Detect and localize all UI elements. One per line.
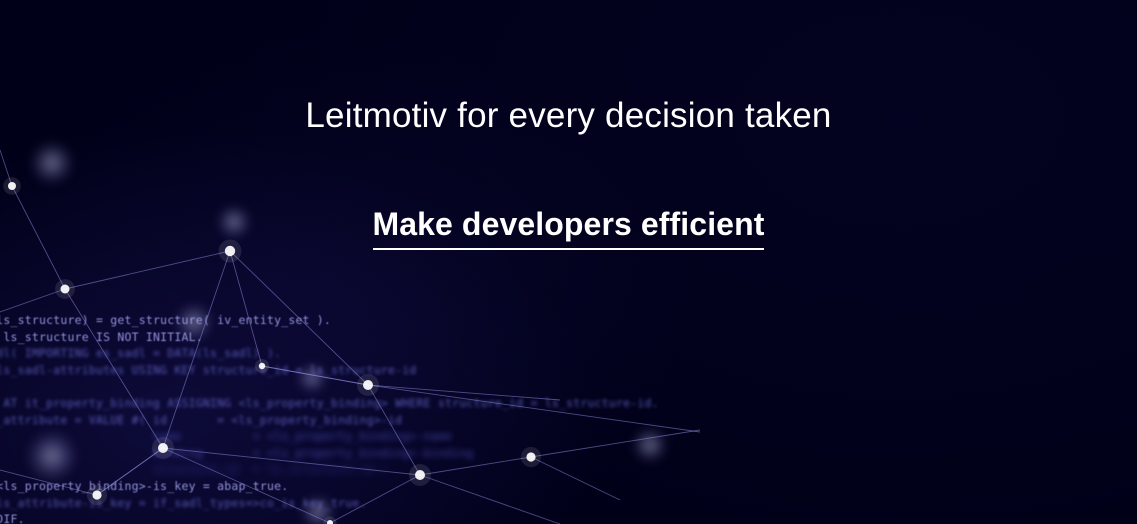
network-edge: [65, 251, 230, 289]
code-line: ls_attribute-is_key = if_sadl_types=>co_…: [0, 495, 622, 512]
background-code-text: ls_structure) = get_structure( iv_entity…: [0, 312, 622, 524]
network-edge: [0, 150, 12, 186]
network-edge: [0, 289, 65, 312]
code-line: name = <ls_property_binding>-name: [0, 428, 622, 445]
code-line: E ls_sadl-attributes USING KEY structure…: [0, 362, 622, 379]
network-node: [61, 285, 70, 294]
network-node-halo: [55, 279, 75, 299]
code-line: OP AT it_property_binding ASSIGNING <ls_…: [0, 395, 622, 412]
glow-blob: [632, 427, 668, 463]
code-line: ENDIF.: [0, 511, 622, 524]
code-line: binding = <ls_property_binding>-binding: [0, 445, 622, 462]
code-line: sadl( IMPORTING es_sadl = DATA(ls_sadl) …: [0, 345, 622, 362]
code-line: [0, 378, 622, 395]
network-node-halo: [3, 177, 21, 195]
subtitle-container: Make developers efficient: [0, 203, 1137, 250]
network-node: [8, 182, 16, 190]
slide-canvas: ls_structure) = get_structure( iv_entity…: [0, 0, 1137, 524]
code-line: IF ls_structure IS NOT INITIAL.: [0, 329, 622, 346]
glow-blob: [30, 141, 74, 185]
code-line: F <ls_property_binding>-is_key = abap_tr…: [0, 478, 622, 495]
page-title: Leitmotiv for every decision taken: [0, 93, 1137, 139]
code-line: ls_structure) = get_structure( iv_entity…: [0, 312, 622, 329]
subtitle-emphasis: Make developers efficient: [373, 203, 765, 250]
code-line: ls_attribute = VALUE #( id = <ls_propert…: [0, 412, 622, 429]
code-line: structure_id = ls_structure-id ): [0, 461, 622, 478]
